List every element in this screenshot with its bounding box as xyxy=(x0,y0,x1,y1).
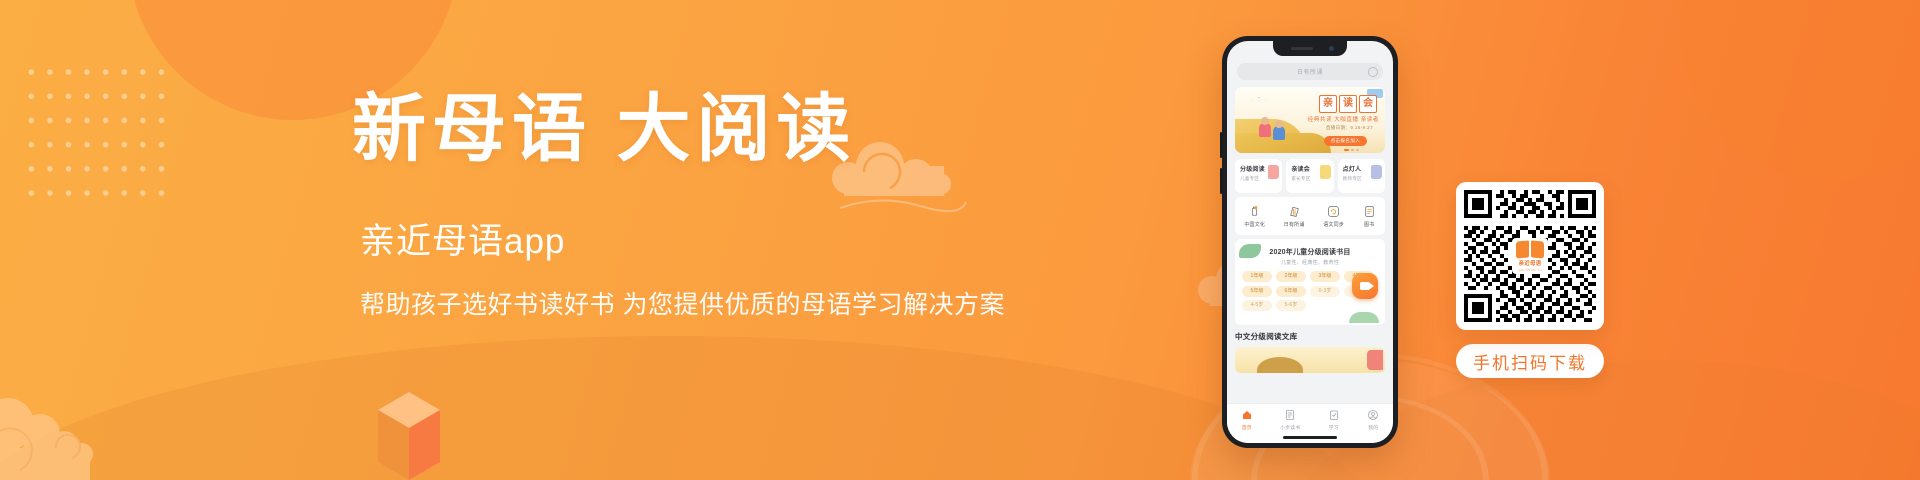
download-block: 亲近母语 QIN JIN MU YU 手机扫码下载 xyxy=(1456,182,1604,378)
search-input[interactable]: 日有所诵 xyxy=(1237,63,1383,80)
library-section: 中文分级阅读文库 xyxy=(1235,331,1385,373)
decor-isometric-cube xyxy=(378,384,440,480)
hero-signup-button[interactable]: 点击报名加入 xyxy=(1324,136,1367,146)
search-scan-icon[interactable] xyxy=(1368,67,1378,77)
booklist-section: 2020年儿童分级阅读书目 儿童性、经典性、教育性 1年级 2年级 3年级 4年… xyxy=(1235,239,1385,325)
home-icon xyxy=(1241,409,1253,421)
hero-title-char: 会 xyxy=(1359,95,1377,113)
brand-name: 亲近母语 xyxy=(1519,259,1542,267)
quick-entry-label: 图书 xyxy=(1364,221,1374,228)
tab-label: 首页 xyxy=(1242,424,1252,431)
book-logo-icon xyxy=(1516,241,1544,258)
tab-label: 学习 xyxy=(1329,424,1339,431)
grade-chip[interactable]: 6年级 xyxy=(1276,286,1306,297)
age-chip[interactable]: 0-3岁 xyxy=(1310,286,1340,297)
grade-chip[interactable]: 1年级 xyxy=(1242,271,1272,282)
hero-subtitle: 经典共读 大咖直播 亲读者 xyxy=(1308,115,1379,123)
book-icon xyxy=(1268,165,1279,179)
sync-icon xyxy=(1327,205,1340,218)
tab-label: 小步读书 xyxy=(1280,424,1300,431)
hero-title-char: 读 xyxy=(1339,95,1357,113)
qr-code-card: 亲近母语 QIN JIN MU YU xyxy=(1456,182,1604,330)
phone-screen: 日有所诵 · ˜ · 亲 读 会 经典共读 大咖直播 亲读者 直播日期：9.16… xyxy=(1227,41,1393,443)
quick-entry-label: 日有所诵 xyxy=(1284,221,1305,228)
quick-entry-books[interactable]: 图书 xyxy=(1363,205,1376,228)
lamp-icon xyxy=(1371,165,1382,179)
book-icon xyxy=(1363,205,1376,218)
qr-center-logo: 亲近母语 QIN JIN MU YU xyxy=(1512,238,1548,274)
decor-dot-grid xyxy=(22,60,168,212)
age-chip[interactable]: 4-5岁 xyxy=(1242,300,1272,311)
tab-read[interactable]: 小步读书 xyxy=(1280,409,1300,431)
decor-circle-top-right xyxy=(1680,0,1920,180)
book-icon xyxy=(1320,165,1331,179)
page-title: 新母语 大阅读 xyxy=(352,92,1012,169)
tab-profile[interactable]: 我的 xyxy=(1367,409,1379,431)
hero-kid-left xyxy=(1259,123,1271,137)
grade-chip[interactable]: 2年级 xyxy=(1276,271,1306,282)
age-chip[interactable]: 5-6岁 xyxy=(1276,300,1306,311)
profile-icon xyxy=(1367,409,1379,421)
recite-icon xyxy=(1288,205,1301,218)
hero-banner[interactable]: · ˜ · 亲 读 会 经典共读 大咖直播 亲读者 直播日期：9.16-9.27… xyxy=(1235,87,1385,153)
phone-mockup: 日有所诵 · ˜ · 亲 读 会 经典共读 大咖直播 亲读者 直播日期：9.16… xyxy=(1222,36,1398,448)
tab-label: 我的 xyxy=(1368,424,1378,431)
booklist-title: 2020年儿童分级阅读书目 xyxy=(1235,247,1385,257)
quick-entry-row: 中国文化 日有所诵 语文同步 xyxy=(1235,197,1385,235)
quick-entry-label: 中国文化 xyxy=(1244,221,1265,228)
grade-chip[interactable]: 3年级 xyxy=(1310,271,1340,282)
brand-name-pinyin: QIN JIN MU YU xyxy=(1518,268,1542,272)
auspicious-cloud-icon xyxy=(0,390,108,480)
study-icon xyxy=(1328,409,1340,421)
tab-home[interactable]: 首页 xyxy=(1241,409,1253,431)
library-title: 中文分级阅读文库 xyxy=(1235,331,1385,342)
phone-notch xyxy=(1273,41,1347,56)
read-icon xyxy=(1284,409,1296,421)
category-card[interactable]: 分级阅读 儿童专区 xyxy=(1235,159,1282,193)
category-card-list: 分级阅读 儿童专区 亲读会 家长专区 点灯人 教师专区 xyxy=(1235,159,1385,193)
search-placeholder: 日有所诵 xyxy=(1297,67,1323,76)
quick-entry-culture[interactable]: 中国文化 xyxy=(1244,205,1265,228)
quick-entry-label: 语文同步 xyxy=(1323,221,1344,228)
hero-birds-icon: · ˜ · xyxy=(1251,97,1269,103)
quick-entry-recite[interactable]: 日有所诵 xyxy=(1284,205,1305,228)
category-card[interactable]: 亲读会 家长专区 xyxy=(1286,159,1333,193)
banner-copy: 新母语 大阅读 亲近母语app 帮助孩子选好书读好书 为您提供优质的母语学习解决… xyxy=(352,92,1012,321)
home-indicator xyxy=(1283,436,1337,439)
decor-hill-left xyxy=(0,336,1380,480)
leaf-decor-icon xyxy=(1349,312,1379,323)
download-button[interactable]: 手机扫码下载 xyxy=(1456,344,1604,378)
promo-banner: 新母语 大阅读 亲近母语app 帮助孩子选好书读好书 为您提供优质的母语学习解决… xyxy=(0,0,1920,480)
category-card[interactable]: 点灯人 教师专区 xyxy=(1338,159,1385,193)
video-play-button[interactable] xyxy=(1352,273,1378,299)
hero-title: 亲 读 会 xyxy=(1319,95,1377,113)
hero-title-char: 亲 xyxy=(1319,95,1337,113)
grade-chip[interactable]: 5年级 xyxy=(1242,286,1272,297)
hero-date: 直播日期：9.16-9.27 xyxy=(1326,125,1373,131)
quick-entry-sync[interactable]: 语文同步 xyxy=(1323,205,1344,228)
booklist-subtitle: 儿童性、经典性、教育性 xyxy=(1235,259,1385,266)
tab-study[interactable]: 学习 xyxy=(1328,409,1340,431)
culture-icon xyxy=(1248,205,1261,218)
hero-kid-right xyxy=(1273,126,1285,140)
banner-tagline: 帮助孩子选好书读好书 为您提供优质的母语学习解决方案 xyxy=(360,289,1012,322)
app-name-subtitle: 亲近母语app xyxy=(360,221,1012,263)
carousel-indicator[interactable] xyxy=(1344,149,1359,151)
library-card[interactable] xyxy=(1235,347,1385,373)
